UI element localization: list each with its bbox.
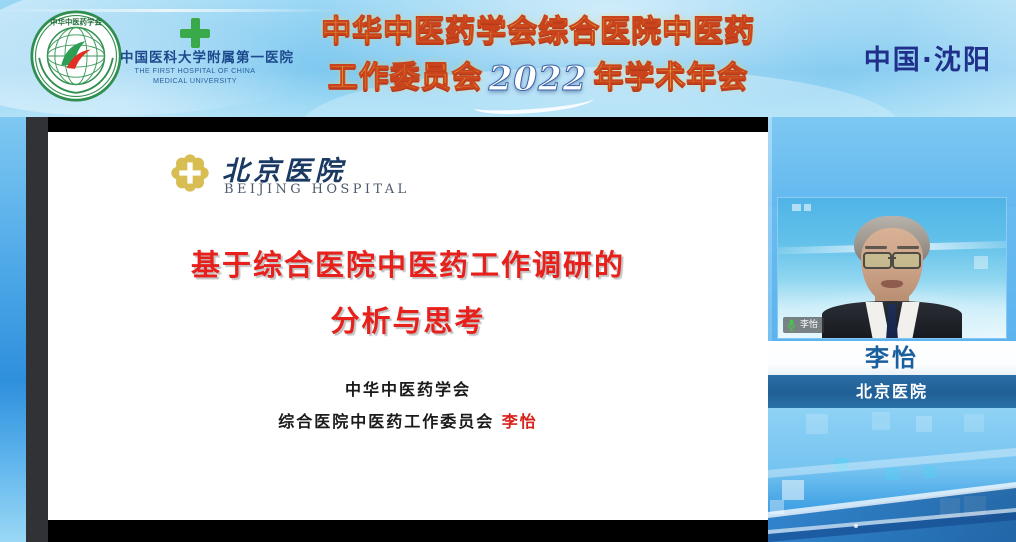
slide-subtitle-line2: 综合医院中医药工作委员会 李怡 bbox=[48, 406, 768, 438]
conference-title-line2-pre: 工作委员会 bbox=[328, 60, 483, 95]
conference-title-line1: 中华中医药学会综合医院中医药 bbox=[268, 9, 808, 55]
video-mic-name-chip[interactable]: 李怡 bbox=[783, 317, 824, 333]
conference-header-banner: 中华中医药学会 中国医科大学附属第一医院 THE FIRST HOSPITAL … bbox=[0, 0, 1016, 117]
speaker-video-tile[interactable]: 李怡 bbox=[778, 198, 1006, 338]
speaker-org-bar: 北京医院 bbox=[768, 375, 1016, 408]
china-medical-university-first-hospital-logo: 中国医科大学附属第一医院 THE FIRST HOSPITAL OF CHINA… bbox=[120, 18, 270, 103]
speaker-mouth bbox=[881, 280, 903, 288]
microphone-icon bbox=[787, 319, 796, 331]
cmu-hospital-name-en-line1: THE FIRST HOSPITAL OF CHINA bbox=[120, 66, 270, 76]
slide-stage[interactable]: 北京医院 BEIJING HOSPITAL 基于综合医院中医药工作调研的 分析与… bbox=[26, 117, 768, 542]
slide-title-line1: 基于综合医院中医药工作调研的 bbox=[48, 237, 768, 293]
slide-letterbox-bottom bbox=[48, 520, 768, 542]
green-cross-icon bbox=[180, 18, 210, 48]
svg-text:中华中医药学会: 中华中医药学会 bbox=[50, 18, 102, 27]
conference-city: 中国·沈阳 bbox=[864, 38, 992, 77]
speaker-glasses-right-lens bbox=[892, 252, 921, 269]
conference-stream-screen: 中华中医药学会 中国医科大学附属第一医院 THE FIRST HOSPITAL … bbox=[0, 0, 1016, 542]
beijing-hospital-name-en: BEIJING HOSPITAL bbox=[224, 182, 410, 197]
video-mic-name-label: 李怡 bbox=[800, 321, 818, 330]
slide-subtitle-org: 综合医院中医药工作委员会 bbox=[278, 412, 494, 431]
slide-title: 基于综合医院中医药工作调研的 分析与思考 bbox=[48, 237, 768, 349]
speaker-eyebrow-right bbox=[897, 246, 919, 249]
speaker-eyebrow-left bbox=[865, 246, 887, 249]
slide-subtitle-line1: 中华中医药学会 bbox=[48, 374, 768, 406]
speaker-face bbox=[861, 228, 923, 302]
virtual-background-square bbox=[792, 204, 801, 211]
panel-top-gradient bbox=[768, 117, 1016, 207]
presentation-slide[interactable]: 北京医院 BEIJING HOSPITAL 基于综合医院中医药工作调研的 分析与… bbox=[48, 132, 768, 520]
speaker-name-bar: 李怡 bbox=[768, 341, 1016, 375]
slide-author-name: 李怡 bbox=[502, 412, 538, 431]
speaker-glasses-left-lens bbox=[863, 252, 892, 269]
speaker-glasses-bridge bbox=[888, 257, 896, 259]
speaker-org: 北京医院 bbox=[856, 384, 928, 400]
beijing-hospital-logo: 北京医院 BEIJING HOSPITAL bbox=[170, 149, 400, 201]
speaker-name: 李怡 bbox=[865, 346, 919, 370]
cmu-hospital-name-en-line2: MEDICAL UNIVERSITY bbox=[120, 76, 270, 86]
conference-title: 中华中医药学会综合医院中医药 工作委员会2022年学术年会 bbox=[268, 9, 808, 109]
conference-title-line2-post: 年学术年会 bbox=[593, 60, 748, 95]
slide-title-line2: 分析与思考 bbox=[48, 293, 768, 349]
speaker-side-panel: 李怡 李怡 北京医院 bbox=[768, 117, 1016, 542]
slide-subtitle: 中华中医药学会 综合医院中医药工作委员会 李怡 bbox=[48, 374, 768, 438]
conference-title-line2: 工作委员会2022年学术年会 bbox=[268, 55, 808, 102]
cacm-emblem-icon: 中华中医药学会 bbox=[30, 10, 122, 102]
virtual-background-square bbox=[804, 204, 811, 211]
left-background-gutter bbox=[0, 117, 26, 542]
cmu-hospital-name-cn: 中国医科大学附属第一医院 bbox=[120, 51, 270, 66]
beijing-hospital-emblem-icon bbox=[170, 153, 210, 193]
panel-decoration-graphic bbox=[768, 408, 1016, 542]
slide-letterbox-top bbox=[48, 117, 768, 132]
virtual-background-square bbox=[974, 256, 988, 269]
